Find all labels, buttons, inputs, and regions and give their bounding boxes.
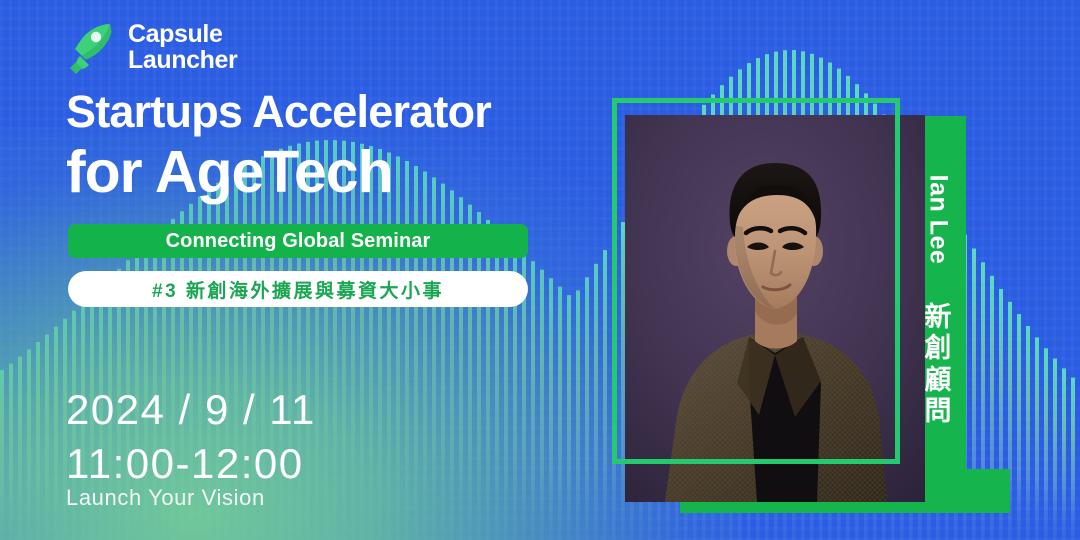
speaker-name: Ian Lee	[924, 174, 953, 264]
speaker-portrait	[625, 115, 925, 502]
session-topic-banner: #3 新創海外擴展與募資大小事	[68, 271, 528, 307]
rocket-icon	[66, 18, 118, 76]
seminar-series-banner: Connecting Global Seminar	[68, 224, 528, 258]
speaker-name-vertical: Ian Lee	[910, 139, 966, 299]
speaker-role-char-3: 問	[925, 396, 952, 427]
event-banner: Capsule Launcher Startups Accelerator fo…	[0, 0, 1080, 540]
brand-name-line1: Capsule	[128, 20, 222, 48]
tagline: Launch Your Vision	[66, 485, 265, 511]
event-date: 2024 / 9 / 11	[66, 383, 316, 437]
headline-line1: Startups Accelerator	[66, 88, 491, 137]
speaker-portrait-svg	[625, 115, 925, 502]
speaker-role-char-1: 創	[925, 333, 952, 364]
seminar-series-label: Connecting Global Seminar	[166, 230, 431, 253]
speaker-role-char-0: 新	[925, 302, 952, 333]
speaker-role-char-2: 顧	[925, 365, 952, 396]
brand-name-line2: Launcher	[128, 47, 237, 73]
event-time: 11:00-12:00	[66, 437, 316, 491]
speaker-section: Ian Lee 新 創 顧 問	[600, 84, 1020, 504]
brand-logo: Capsule Launcher	[66, 18, 237, 76]
schedule-block: 2024 / 9 / 11 11:00-12:00	[66, 383, 316, 491]
session-topic-label: #3 新創海外擴展與募資大小事	[152, 276, 444, 303]
speaker-role-vertical: 新 創 顧 問	[910, 302, 966, 427]
brand-name: Capsule Launcher	[128, 21, 237, 73]
headline-line2: for AgeTech	[66, 139, 491, 205]
headline: Startups Accelerator for AgeTech	[66, 88, 491, 205]
